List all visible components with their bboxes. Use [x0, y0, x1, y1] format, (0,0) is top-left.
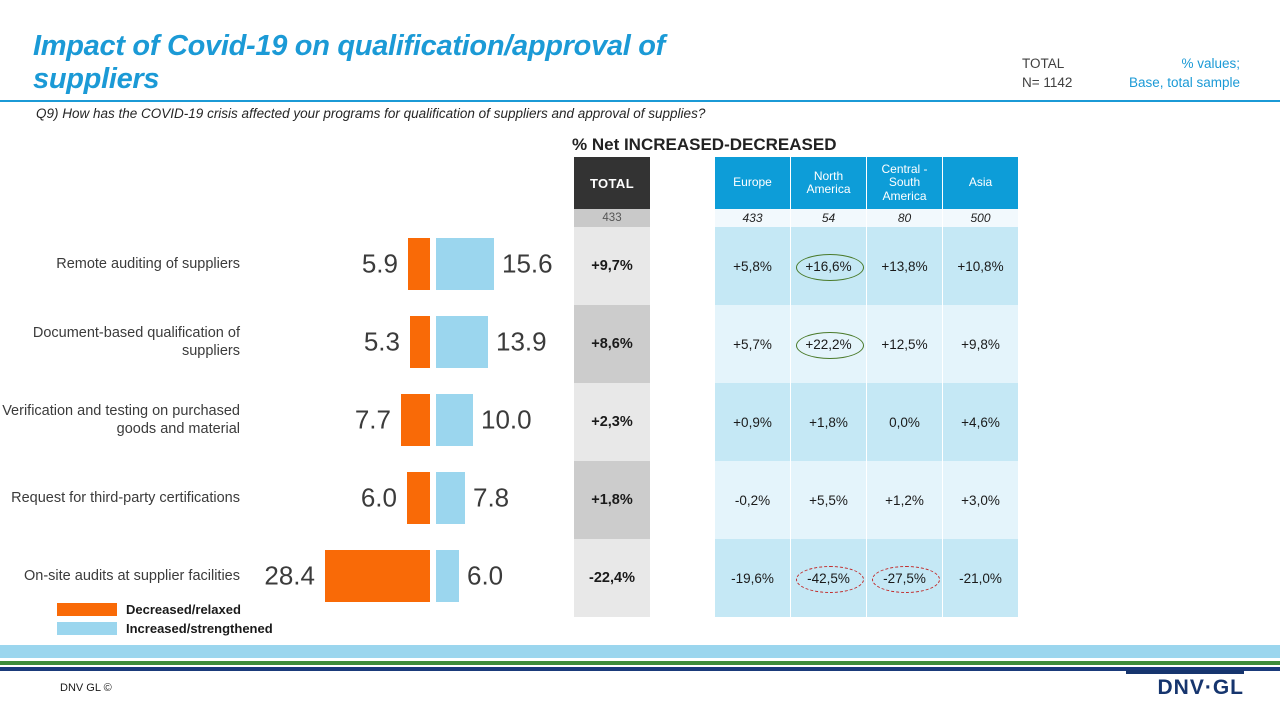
legend-swatch-decreased-icon: [57, 603, 117, 616]
bar-increased: [436, 316, 488, 368]
value-increased: 15.6: [502, 249, 553, 280]
cell-value: +0,9%: [733, 415, 772, 430]
footer-stripe-green: [0, 661, 1280, 665]
chart-row-label: Request for third-party certifications: [0, 489, 240, 507]
table-row: -19,6% -42,5% -27,5% -21,0%: [715, 539, 1018, 617]
table-cell: +16,6%: [791, 227, 867, 305]
cell-value: +12,5%: [881, 337, 927, 352]
base-n-cell: 54: [791, 209, 867, 227]
value-decreased: 6.0: [361, 483, 397, 514]
table-cell: +5,8%: [715, 227, 791, 305]
chart-row: Request for third-party certifications 6…: [0, 459, 565, 537]
cell-value: -21,0%: [959, 571, 1002, 586]
cell-value: +3,0%: [961, 493, 1000, 508]
total-column: TOTAL 433 +9,7% +8,6% +2,3% +1,8% -22,4%: [574, 157, 650, 617]
title-divider: [0, 100, 1280, 102]
table-row: +0,9% +1,8% 0,0% +4,6%: [715, 383, 1018, 461]
table-cell: +4,6%: [943, 383, 1018, 461]
cell-value: +10,8%: [957, 259, 1003, 274]
footer-copyright: DNV GL ©: [60, 682, 112, 694]
value-increased: 6.0: [467, 561, 503, 592]
cell-value: +1,8%: [809, 415, 848, 430]
meta-total-label: TOTAL: [1022, 54, 1072, 73]
column-header-asia: Asia: [943, 157, 1018, 209]
table-cell: +13,8%: [867, 227, 943, 305]
page-title: Impact of Covid-19 on qualification/appr…: [33, 30, 793, 96]
value-decreased: 5.3: [364, 327, 400, 358]
value-decreased: 28.4: [264, 561, 315, 592]
cell-value: +13,8%: [881, 259, 927, 274]
table-cell: +22,2%: [791, 305, 867, 383]
footer-stripe-navy: [0, 667, 1280, 671]
column-header-north-america: North America: [791, 157, 867, 209]
table-cell: +5,7%: [715, 305, 791, 383]
bar-increased: [436, 238, 494, 290]
bar-increased: [436, 550, 459, 602]
table-cell: +3,0%: [943, 461, 1018, 539]
total-cell: +9,7%: [574, 227, 650, 305]
legend-swatch-increased-icon: [57, 622, 117, 635]
bar-decreased: [325, 550, 430, 602]
chart-row-label: Remote auditing of suppliers: [0, 255, 240, 273]
base-n-cell: 80: [867, 209, 943, 227]
chart-row-label: On-site audits at supplier facilities: [0, 567, 240, 585]
table-cell: +1,2%: [867, 461, 943, 539]
chart-row-label: Document-based qualification of supplier…: [0, 324, 240, 360]
values-note: % values; Base, total sample: [1110, 54, 1240, 92]
chart-row: Remote auditing of suppliers 5.9 15.6: [0, 225, 565, 303]
cell-value: +9,8%: [961, 337, 1000, 352]
total-column-header: TOTAL: [574, 157, 650, 209]
value-decreased: 7.7: [355, 405, 391, 436]
values-note-line2: Base, total sample: [1110, 73, 1240, 92]
table-cell: 0,0%: [867, 383, 943, 461]
table-row: +5,8% +16,6% +13,8% +10,8%: [715, 227, 1018, 305]
base-n-cell: 500: [943, 209, 1018, 227]
cell-value: +5,7%: [733, 337, 772, 352]
diverging-bar-chart: Remote auditing of suppliers 5.9 15.6 Do…: [0, 225, 565, 615]
table-cell: -21,0%: [943, 539, 1018, 617]
net-table-heading: % Net INCREASED-DECREASED: [572, 135, 836, 155]
total-cell: +1,8%: [574, 461, 650, 539]
total-cell: -22,4%: [574, 539, 650, 617]
table-cell: -27,5%: [867, 539, 943, 617]
legend-label: Increased/strengthened: [126, 621, 273, 636]
bar-decreased: [408, 238, 430, 290]
meta-n-label: N= 1142: [1022, 73, 1072, 92]
cell-value: +1,2%: [885, 493, 924, 508]
legend-label: Decreased/relaxed: [126, 602, 241, 617]
cell-value: +5,8%: [733, 259, 772, 274]
table-cell: -19,6%: [715, 539, 791, 617]
legend-item: Decreased/relaxed: [57, 600, 273, 619]
values-note-line1: % values;: [1110, 54, 1240, 73]
cell-value: +16,6%: [805, 259, 851, 274]
bar-decreased: [407, 472, 430, 524]
total-column-base-n: 433: [574, 209, 650, 227]
cell-value: +22,2%: [805, 337, 851, 352]
footer-logo-bar: [1126, 670, 1244, 674]
table-cell: +10,8%: [943, 227, 1018, 305]
chart-row-label: Verification and testing on purchased go…: [0, 402, 240, 438]
table-cell: -42,5%: [791, 539, 867, 617]
table-cell: +1,8%: [791, 383, 867, 461]
value-increased: 10.0: [481, 405, 532, 436]
column-header-europe: Europe: [715, 157, 791, 209]
cell-value: -0,2%: [735, 493, 770, 508]
total-cell: +2,3%: [574, 383, 650, 461]
region-breakdown-table: Europe North America Central - South Ame…: [715, 157, 1018, 617]
table-base-n-row: 433 54 80 500: [715, 209, 1018, 227]
question-text: Q9) How has the COVID-19 crisis affected…: [36, 106, 705, 121]
base-n-cell: 433: [715, 209, 791, 227]
value-increased: 7.8: [473, 483, 509, 514]
table-row: +5,7% +22,2% +12,5% +9,8%: [715, 305, 1018, 383]
cell-value: -42,5%: [807, 571, 850, 586]
bar-decreased: [401, 394, 430, 446]
value-decreased: 5.9: [362, 249, 398, 280]
total-cell: +8,6%: [574, 305, 650, 383]
table-cell: +9,8%: [943, 305, 1018, 383]
chart-row: Verification and testing on purchased go…: [0, 381, 565, 459]
table-header-row: Europe North America Central - South Ame…: [715, 157, 1018, 209]
table-cell: +5,5%: [791, 461, 867, 539]
cell-value: -27,5%: [883, 571, 926, 586]
chart-legend: Decreased/relaxed Increased/strengthened: [57, 600, 273, 638]
bar-increased: [436, 394, 473, 446]
value-increased: 13.9: [496, 327, 547, 358]
table-row: -0,2% +5,5% +1,2% +3,0%: [715, 461, 1018, 539]
cell-value: -19,6%: [731, 571, 774, 586]
cell-value: +4,6%: [961, 415, 1000, 430]
table-cell: +12,5%: [867, 305, 943, 383]
cell-value: +5,5%: [809, 493, 848, 508]
bar-decreased: [410, 316, 430, 368]
table-cell: +0,9%: [715, 383, 791, 461]
footer-stripe-blue: [0, 645, 1280, 658]
column-header-central-south-america: Central - South America: [867, 157, 943, 209]
legend-item: Increased/strengthened: [57, 619, 273, 638]
table-cell: -0,2%: [715, 461, 791, 539]
chart-row: Document-based qualification of supplier…: [0, 303, 565, 381]
dnv-gl-logo: DNV·GL: [1158, 676, 1245, 700]
total-sample-meta: TOTAL N= 1142: [1022, 54, 1072, 92]
bar-increased: [436, 472, 465, 524]
cell-value: 0,0%: [889, 415, 920, 430]
